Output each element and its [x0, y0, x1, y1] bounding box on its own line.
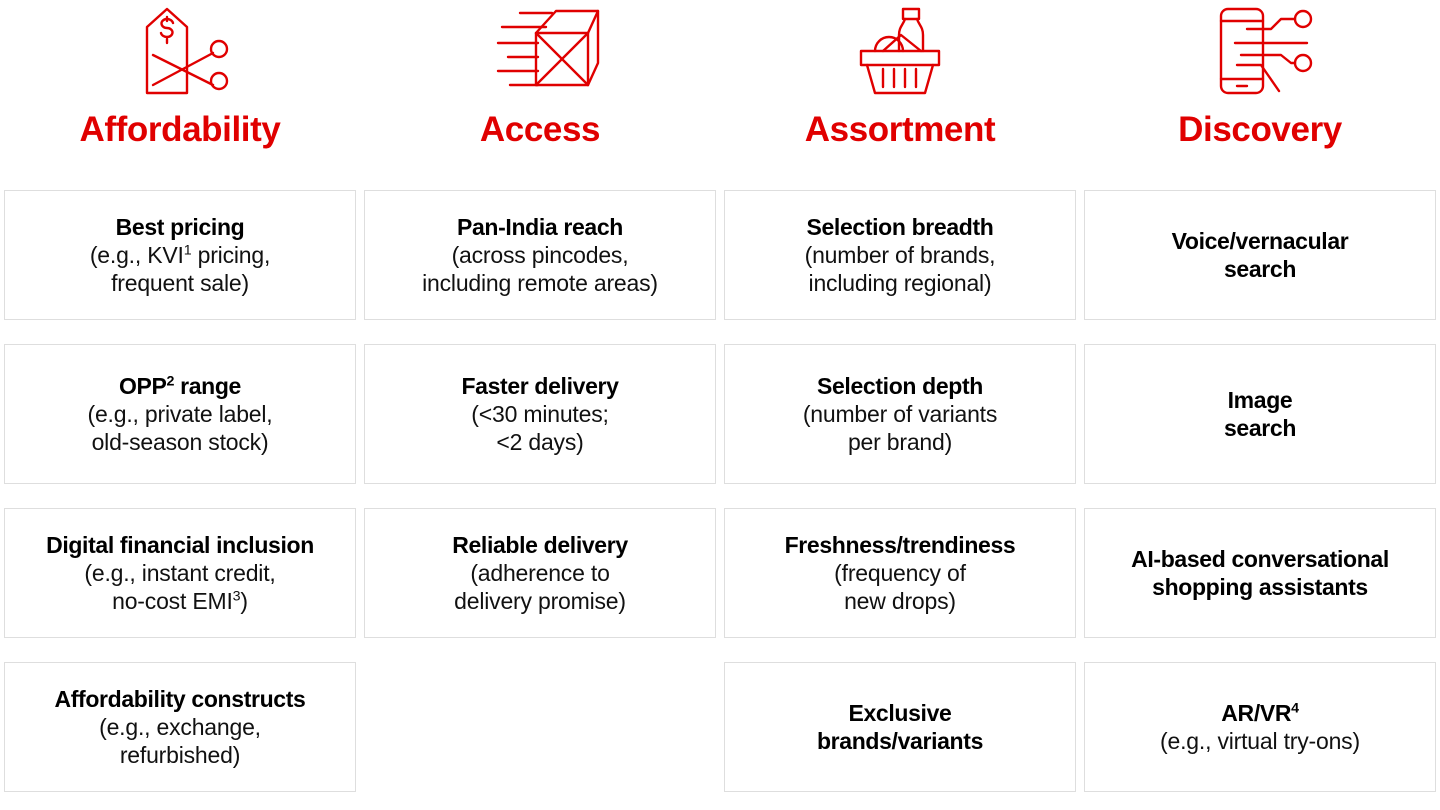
- card-best-pricing[interactable]: Best pricing (e.g., KVI1 pricing, freque…: [4, 190, 356, 320]
- footnote-marker: 2: [167, 373, 175, 389]
- card-subtitle: (adherence to delivery promise): [454, 559, 626, 615]
- shopping-basket-icon: [845, 0, 955, 100]
- card-title: Reliable delivery: [452, 531, 628, 559]
- card-title: Digital financial inclusion: [46, 531, 314, 559]
- card-title: Freshness/trendiness: [785, 531, 1016, 559]
- cell-slot: [360, 662, 720, 792]
- card-subtitle: (<30 minutes; <2 days): [471, 400, 608, 456]
- card-title: Voice/vernacular search: [1172, 227, 1349, 283]
- cell-slot: Faster delivery (<30 minutes; <2 days): [360, 344, 720, 484]
- smartphone-circuit-icon: [1203, 0, 1318, 100]
- card-title: AR/VR4: [1221, 699, 1298, 727]
- card-selection-breadth[interactable]: Selection breadth (number of brands, inc…: [724, 190, 1076, 320]
- card-image-search[interactable]: Image search: [1084, 344, 1436, 484]
- card-ar-vr[interactable]: AR/VR4 (e.g., virtual try-ons): [1084, 662, 1436, 792]
- moving-box-icon: [480, 0, 600, 100]
- footnote-marker: 4: [1291, 700, 1299, 716]
- card-title: Faster delivery: [461, 372, 618, 400]
- card-subtitle: (number of variants per brand): [803, 400, 997, 456]
- card-title: OPP2 range: [119, 372, 241, 400]
- card-subtitle: (e.g., virtual try-ons): [1160, 727, 1360, 755]
- column-header-row: Affordability Access: [0, 0, 1440, 190]
- card-ai-conversational-assistants[interactable]: AI-based conversational shopping assista…: [1084, 508, 1436, 638]
- card-affordability-constructs[interactable]: Affordability constructs (e.g., exchange…: [4, 662, 356, 792]
- card-selection-depth[interactable]: Selection depth (number of variants per …: [724, 344, 1076, 484]
- column-header-discovery: Discovery: [1080, 0, 1440, 190]
- card-empty-access: [364, 662, 716, 792]
- card-title: Pan-India reach: [457, 213, 623, 241]
- card-subtitle: (frequency of new drops): [834, 559, 966, 615]
- cell-slot: Digital financial inclusion (e.g., insta…: [0, 508, 360, 638]
- column-title: Access: [480, 112, 600, 147]
- matrix-row-2: OPP2 range (e.g., private label, old-sea…: [0, 344, 1440, 484]
- cell-slot: Selection depth (number of variants per …: [720, 344, 1080, 484]
- card-title: Exclusive brands/variants: [817, 699, 983, 755]
- matrix-row-3: Digital financial inclusion (e.g., insta…: [0, 508, 1440, 638]
- matrix-row-1: Best pricing (e.g., KVI1 pricing, freque…: [0, 190, 1440, 320]
- card-subtitle: (e.g., exchange, refurbished): [99, 713, 261, 769]
- card-title: Selection breadth: [806, 213, 993, 241]
- matrix-grid: Best pricing (e.g., KVI1 pricing, freque…: [0, 190, 1440, 792]
- cell-slot: Best pricing (e.g., KVI1 pricing, freque…: [0, 190, 360, 320]
- card-faster-delivery[interactable]: Faster delivery (<30 minutes; <2 days): [364, 344, 716, 484]
- cell-slot: OPP2 range (e.g., private label, old-sea…: [0, 344, 360, 484]
- card-title: Affordability constructs: [54, 685, 305, 713]
- price-tag-scissors-icon: [125, 0, 235, 100]
- card-subtitle: (e.g., KVI1 pricing, frequent sale): [90, 241, 270, 297]
- card-title: Image search: [1224, 386, 1296, 442]
- cell-slot: Image search: [1080, 344, 1440, 484]
- footnote-marker: 1: [184, 242, 192, 258]
- card-title: Selection depth: [817, 372, 983, 400]
- cell-slot: AR/VR4 (e.g., virtual try-ons): [1080, 662, 1440, 792]
- cell-slot: Exclusive brands/variants: [720, 662, 1080, 792]
- cell-slot: Freshness/trendiness (frequency of new d…: [720, 508, 1080, 638]
- cell-slot: Voice/vernacular search: [1080, 190, 1440, 320]
- cell-slot: AI-based conversational shopping assista…: [1080, 508, 1440, 638]
- column-title: Affordability: [80, 112, 281, 147]
- card-exclusive-brands-variants[interactable]: Exclusive brands/variants: [724, 662, 1076, 792]
- matrix-row-4: Affordability constructs (e.g., exchange…: [0, 662, 1440, 792]
- card-subtitle: (number of brands, including regional): [805, 241, 996, 297]
- value-proposition-matrix: Affordability Access: [0, 0, 1440, 810]
- column-title: Discovery: [1178, 112, 1342, 147]
- card-opp-range[interactable]: OPP2 range (e.g., private label, old-sea…: [4, 344, 356, 484]
- footnote-marker: 3: [233, 588, 241, 604]
- card-title: AI-based conversational shopping assista…: [1131, 545, 1389, 601]
- column-title: Assortment: [805, 112, 995, 147]
- card-reliable-delivery[interactable]: Reliable delivery (adherence to delivery…: [364, 508, 716, 638]
- card-title: Best pricing: [116, 213, 245, 241]
- card-digital-financial-inclusion[interactable]: Digital financial inclusion (e.g., insta…: [4, 508, 356, 638]
- cell-slot: Reliable delivery (adherence to delivery…: [360, 508, 720, 638]
- card-subtitle: (across pincodes, including remote areas…: [422, 241, 658, 297]
- cell-slot: Selection breadth (number of brands, inc…: [720, 190, 1080, 320]
- cell-slot: Pan-India reach (across pincodes, includ…: [360, 190, 720, 320]
- cell-slot: Affordability constructs (e.g., exchange…: [0, 662, 360, 792]
- column-header-assortment: Assortment: [720, 0, 1080, 190]
- card-subtitle: (e.g., private label, old-season stock): [87, 400, 272, 456]
- card-freshness-trendiness[interactable]: Freshness/trendiness (frequency of new d…: [724, 508, 1076, 638]
- column-header-affordability: Affordability: [0, 0, 360, 190]
- column-header-access: Access: [360, 0, 720, 190]
- card-voice-vernacular-search[interactable]: Voice/vernacular search: [1084, 190, 1436, 320]
- card-pan-india-reach[interactable]: Pan-India reach (across pincodes, includ…: [364, 190, 716, 320]
- card-subtitle: (e.g., instant credit, no-cost EMI3): [84, 559, 275, 615]
